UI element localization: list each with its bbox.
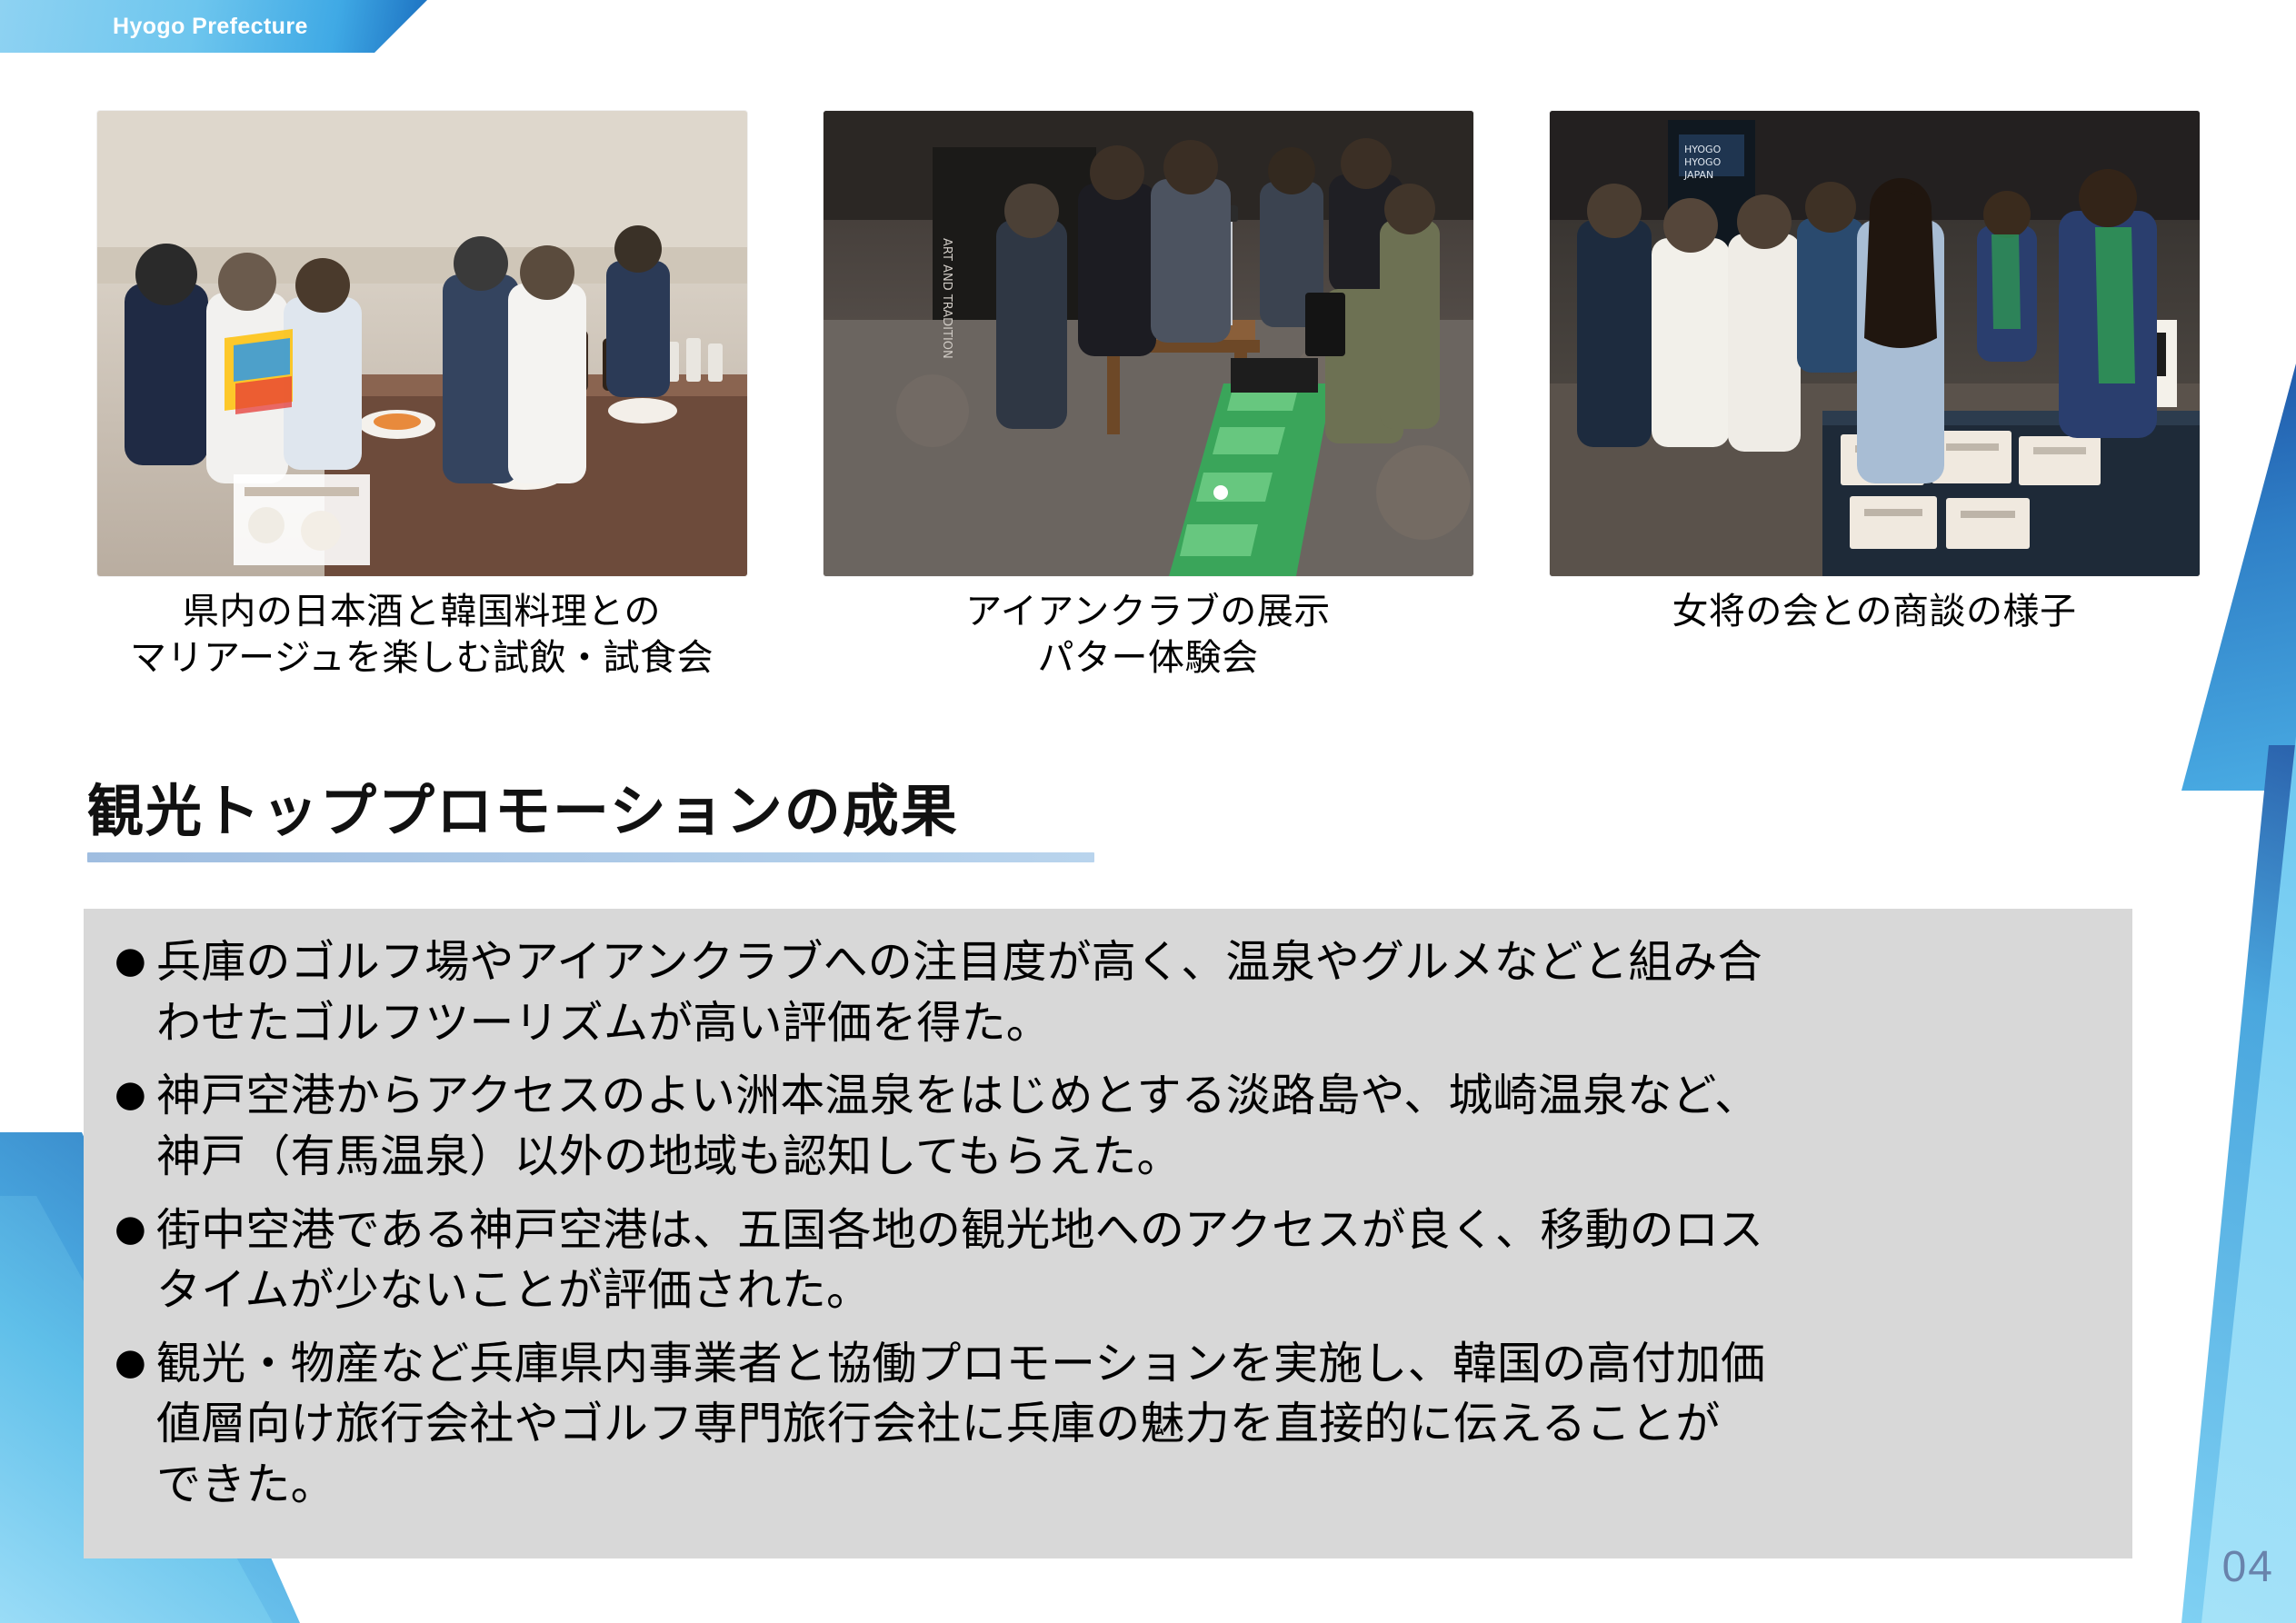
bullet-line: タイムが少ないことが評価された。: [156, 1260, 2101, 1321]
caption-line-1: 女将の会との商談の様子: [1672, 589, 2076, 635]
slide: Hyogo Prefecture: [0, 0, 2296, 1623]
photo-item: HYOGO HYOGO JAPAN: [1550, 111, 2200, 682]
bullet-text: 街中空港である神戸空港は、五国各地の観光地へのアクセスが良く、移動のロス タイム…: [156, 1200, 2101, 1321]
bullet-text: 神戸空港からアクセスのよい洲本温泉をはじめとする淡路島や、城崎温泉など、 神戸（…: [156, 1066, 2101, 1187]
bullet-marker-icon: ●: [115, 932, 156, 986]
bullet-line: 値層向け旅行会社やゴルフ専門旅行会社に兵庫の魅力を直接的に伝えることが: [156, 1394, 2101, 1455]
decoration-bottom-right-light: [2181, 627, 2296, 1623]
decoration-bottom-right-mid: [2181, 745, 2296, 1623]
page-title: 観光トッププロモーションの成果: [87, 782, 1105, 841]
caption-line-1: 県内の日本酒と韓国料理との: [130, 589, 714, 635]
photo-caption: 女将の会との商談の様子: [1672, 589, 2076, 635]
bullet-line: わせたゴルフツーリズムが高い評価を得た。: [156, 993, 2101, 1054]
photo-row: 県内の日本酒と韓国料理との マリアージュを楽しむ試飲・試食会: [0, 111, 2296, 682]
bullet-text: 観光・物産など兵庫県内事業者と協働プロモーションを実施し、韓国の高付加価 値層向…: [156, 1334, 2101, 1516]
heading-underline: [87, 852, 1094, 862]
photo-item: 県内の日本酒と韓国料理との マリアージュを楽しむ試飲・試食会: [97, 111, 747, 682]
photo-tasting-event: [97, 111, 747, 576]
bullet-line: 兵庫のゴルフ場やアイアンクラブへの注目度が高く、温泉やグルメなどと組み合: [156, 932, 2101, 993]
header-banner: Hyogo Prefecture: [0, 0, 427, 53]
list-item: ● 街中空港である神戸空港は、五国各地の観光地へのアクセスが良く、移動のロス タ…: [115, 1200, 2101, 1321]
photo-item: ART AND TRADITION: [824, 111, 1473, 682]
list-item: ● 兵庫のゴルフ場やアイアンクラブへの注目度が高く、温泉やグルメなどと組み合 わ…: [115, 932, 2101, 1053]
photo-iron-club-exhibit: ART AND TRADITION: [824, 111, 1473, 576]
bullet-line: 神戸（有馬温泉）以外の地域も認知してもらえた。: [156, 1127, 2101, 1188]
caption-line-2: パター体験会: [965, 635, 1330, 682]
header-title: Hyogo Prefecture: [113, 14, 308, 40]
bullet-marker-icon: ●: [115, 1066, 156, 1120]
svg-text:HYOGO: HYOGO: [1684, 156, 1722, 168]
photo-okami-meeting: HYOGO HYOGO JAPAN: [1550, 111, 2200, 576]
svg-text:JAPAN: JAPAN: [1683, 169, 1713, 181]
bullet-line: 街中空港である神戸空港は、五国各地の観光地へのアクセスが良く、移動のロス: [156, 1200, 2101, 1261]
list-item: ● 神戸空港からアクセスのよい洲本温泉をはじめとする淡路島や、城崎温泉など、 神…: [115, 1066, 2101, 1187]
photo-caption: 県内の日本酒と韓国料理との マリアージュを楽しむ試飲・試食会: [130, 589, 714, 682]
bullet-list: ● 兵庫のゴルフ場やアイアンクラブへの注目度が高く、温泉やグルメなどと組み合 わ…: [115, 932, 2101, 1516]
bullet-marker-icon: ●: [115, 1200, 156, 1254]
section-heading-wrap: 観光トッププロモーションの成果: [87, 782, 1105, 862]
svg-text:HYOGO: HYOGO: [1684, 144, 1722, 155]
bullet-line: 観光・物産など兵庫県内事業者と協働プロモーションを実施し、韓国の高付加価: [156, 1334, 2101, 1395]
caption-line-1: アイアンクラブの展示: [965, 589, 1330, 635]
photo-caption: アイアンクラブの展示 パター体験会: [965, 589, 1330, 682]
bullet-marker-icon: ●: [115, 1334, 156, 1388]
page-number: 04: [2222, 1542, 2274, 1592]
svg-text:ART AND TRADITION: ART AND TRADITION: [940, 238, 953, 359]
results-panel: ● 兵庫のゴルフ場やアイアンクラブへの注目度が高く、温泉やグルメなどと組み合 わ…: [84, 909, 2132, 1558]
bullet-text: 兵庫のゴルフ場やアイアンクラブへの注目度が高く、温泉やグルメなどと組み合 わせた…: [156, 932, 2101, 1053]
bullet-line: 神戸空港からアクセスのよい洲本温泉をはじめとする淡路島や、城崎温泉など、: [156, 1066, 2101, 1127]
list-item: ● 観光・物産など兵庫県内事業者と協働プロモーションを実施し、韓国の高付加価 値…: [115, 1334, 2101, 1516]
caption-line-2: マリアージュを楽しむ試飲・試食会: [130, 635, 714, 682]
bullet-line: できた。: [156, 1455, 2101, 1516]
